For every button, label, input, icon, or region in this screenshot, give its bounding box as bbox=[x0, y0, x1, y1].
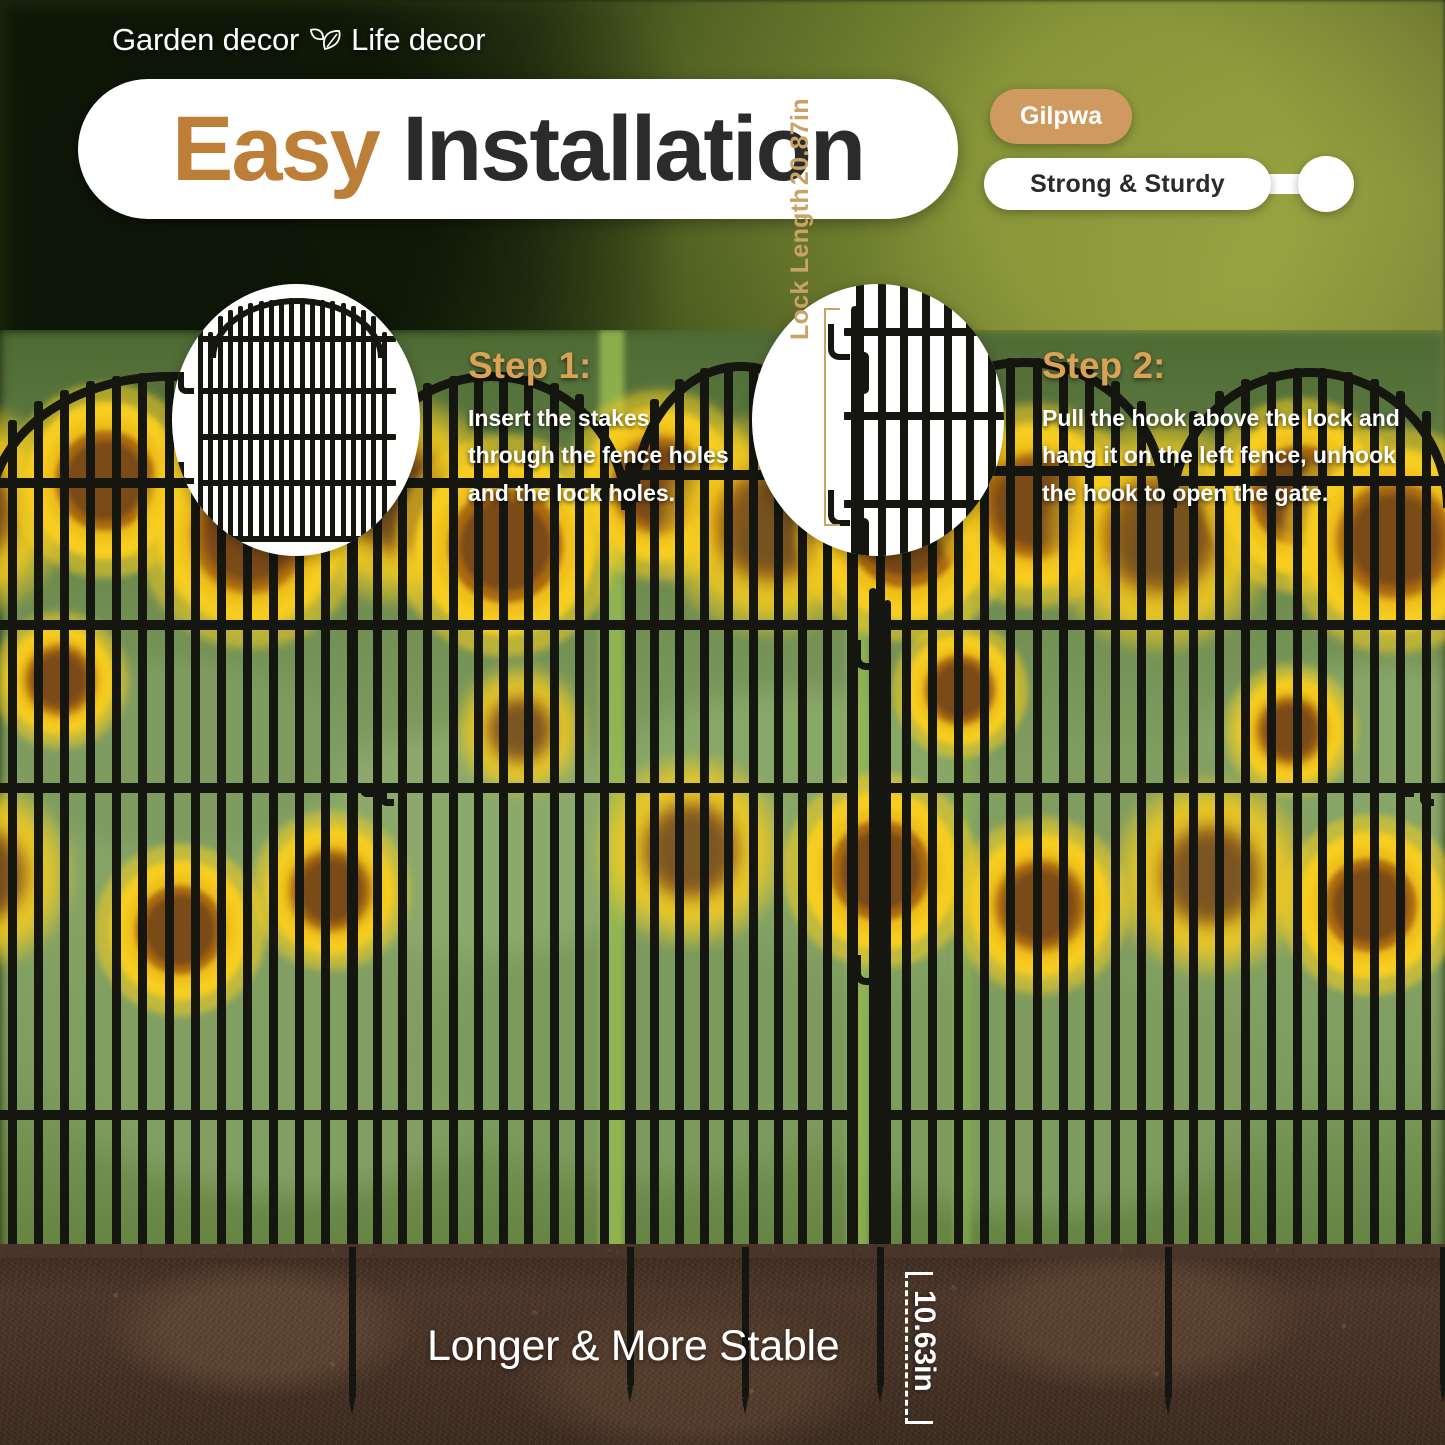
ground-stake bbox=[1165, 1247, 1172, 1399]
footer-caption: Longer & More Stable bbox=[427, 1322, 839, 1371]
stake-tip bbox=[742, 1399, 748, 1415]
mini-gate-rail bbox=[200, 434, 396, 440]
mini-gate-rail bbox=[200, 536, 396, 542]
ground-stake bbox=[877, 1247, 884, 1387]
mini-lock-rod bbox=[198, 306, 203, 550]
stake-tip bbox=[1440, 1387, 1445, 1403]
lock-length-text: Lock Length bbox=[786, 188, 815, 340]
lock-length-measure-line bbox=[824, 308, 840, 526]
mini-gate-bar bbox=[289, 298, 294, 542]
feature-badge: Strong & Sturdy bbox=[984, 158, 1271, 210]
mini-gate-bar bbox=[218, 316, 223, 542]
tagline-right-text: Life decor bbox=[351, 22, 485, 58]
step-1-detail-bubble bbox=[172, 284, 420, 556]
lock-length-label: Lock Length 20.87in bbox=[786, 98, 815, 340]
mini-gate-bar bbox=[300, 298, 305, 542]
stake-tip bbox=[1165, 1399, 1171, 1415]
step-2-heading: Step 2: bbox=[1042, 345, 1165, 387]
mini-gate-rail bbox=[200, 336, 396, 342]
gate-panel-icon bbox=[172, 284, 420, 556]
leaf-icon bbox=[308, 25, 342, 55]
step-1-body: Insert the stakes through the fence hole… bbox=[468, 400, 736, 512]
tagline-left-text: Garden decor bbox=[112, 22, 299, 58]
step-2-body: Pull the hook above the lock and hang it… bbox=[1042, 400, 1424, 512]
mini-lock-collar bbox=[856, 518, 869, 556]
mini-hook bbox=[178, 372, 194, 394]
ground-stake bbox=[349, 1247, 356, 1399]
product-infographic: Garden decor Life decor Easy Installatio… bbox=[0, 0, 1445, 1445]
mini-gate-bar bbox=[228, 310, 233, 542]
feature-badge-dot bbox=[1298, 156, 1354, 212]
brand-name: Gilpwa bbox=[1020, 102, 1102, 131]
headline-pill: Easy Installation bbox=[78, 79, 958, 219]
brand-tagline: Garden decor Life decor bbox=[112, 22, 485, 58]
mini-fence-bar bbox=[922, 284, 930, 556]
lock-length-value: 20.87in bbox=[786, 98, 815, 185]
mini-fence-bar bbox=[944, 284, 952, 556]
mini-hook bbox=[178, 462, 194, 484]
step-1-heading: Step 1: bbox=[468, 345, 591, 387]
mini-gate-rail bbox=[200, 480, 396, 486]
mini-fence-rail bbox=[844, 328, 1004, 336]
mini-gate-rail bbox=[200, 388, 396, 394]
mini-fence-bar bbox=[878, 284, 886, 556]
brand-badge: Gilpwa bbox=[990, 89, 1132, 144]
title-word-easy: Easy bbox=[172, 98, 379, 200]
mini-fence-bar bbox=[900, 284, 908, 556]
page-title: Easy Installation bbox=[172, 103, 864, 195]
mini-fence-bar bbox=[966, 284, 974, 556]
mini-fence-rail bbox=[844, 412, 1004, 420]
mini-lock-collar bbox=[856, 352, 869, 394]
feature-badge-label: Strong & Sturdy bbox=[1030, 170, 1225, 199]
stake-tip bbox=[627, 1387, 633, 1403]
mini-gate-arch bbox=[210, 298, 384, 358]
mini-gate-bar bbox=[361, 310, 366, 542]
stake-tip bbox=[877, 1387, 883, 1403]
mini-fence-rail bbox=[844, 500, 1004, 508]
mini-gate-bar bbox=[371, 316, 376, 542]
ground-stake bbox=[1440, 1247, 1445, 1387]
stake-tip bbox=[349, 1399, 355, 1415]
burial-depth-value: 10.63in bbox=[907, 1290, 941, 1392]
mini-fence-bar bbox=[988, 284, 996, 556]
